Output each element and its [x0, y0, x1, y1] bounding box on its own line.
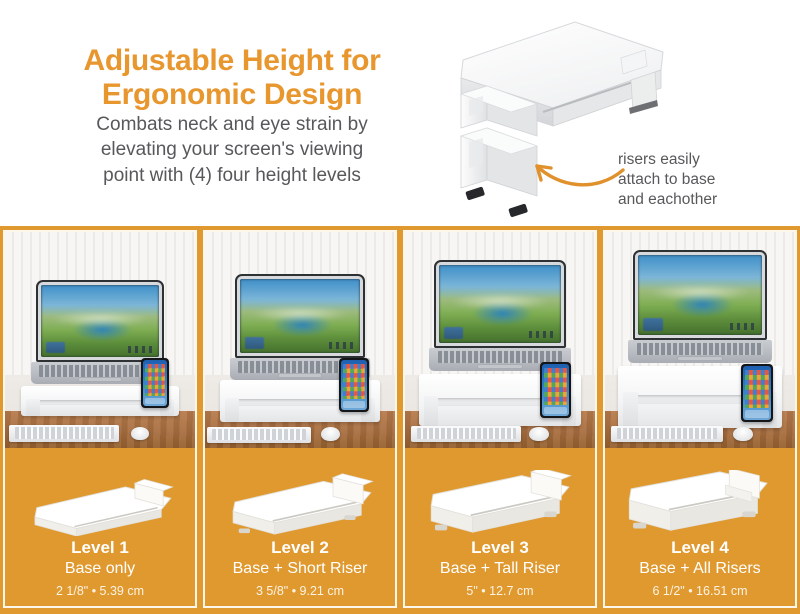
level-dimensions: 5" • 12.7 cm	[411, 584, 589, 598]
phone-screen	[143, 360, 167, 406]
stand-leg-left	[26, 399, 40, 416]
subhead-line-2: elevating your screen's viewing	[42, 137, 422, 162]
subhead-line-3: point with (4) four height levels	[42, 163, 422, 188]
stand-leg-left	[623, 392, 638, 428]
level-title: Level 1	[11, 538, 189, 558]
headline-line-2: Ergonomic Design	[42, 78, 422, 112]
level-panel-4[interactable]: Level 4 Base + All Risers 6 1/2" • 16.51…	[603, 230, 797, 608]
phone-screen	[743, 366, 771, 420]
stand-leg-left	[225, 398, 239, 422]
laptop	[633, 250, 767, 363]
desktop-icon	[643, 318, 663, 331]
level-2-labels: Level 2 Base + Short Riser 3 5/8" • 9.21…	[205, 538, 395, 606]
phone-dock	[145, 398, 165, 404]
phone-app-grid	[343, 364, 365, 399]
level-subtitle: Base + Tall Riser	[411, 559, 589, 579]
level-subtitle: Base + Short Riser	[211, 559, 389, 579]
level-panel-2[interactable]: Level 2 Base + Short Riser 3 5/8" • 9.21…	[203, 230, 397, 608]
laptop-trackpad	[477, 364, 522, 370]
computer-mouse	[321, 427, 340, 441]
external-keyboard	[611, 426, 723, 442]
level-title: Level 2	[211, 538, 389, 558]
riser-annotation: risers easily attach to base and eachoth…	[618, 150, 794, 210]
laptop-lid	[235, 274, 365, 358]
photo-level-4-desk-setup	[605, 232, 795, 448]
laptop-screen	[439, 265, 561, 343]
product-render-level-4	[605, 448, 795, 538]
smartphone-in-holder	[339, 358, 369, 412]
level-3-labels: Level 3 Base + Tall Riser 5" • 12.7 cm	[405, 538, 595, 606]
photo-level-2-desk-setup	[205, 232, 395, 448]
computer-mouse	[131, 427, 149, 440]
smartphone-in-holder	[540, 362, 571, 418]
phone-dock	[745, 410, 769, 418]
product-render-level-2	[205, 448, 395, 538]
level-title: Level 3	[411, 538, 589, 558]
external-keyboard	[411, 426, 521, 442]
laptop-keys	[637, 343, 764, 355]
subhead-line-1: Combats neck and eye strain by	[42, 112, 422, 137]
phone-dock	[343, 401, 365, 408]
laptop-screen	[638, 255, 762, 335]
level-panel-1[interactable]: Level 1 Base only 2 1/8" • 5.39 cm	[3, 230, 197, 608]
level-dimensions: 2 1/8" • 5.39 cm	[11, 584, 189, 598]
annotation-line-2: attach to base	[618, 170, 794, 190]
taskbar-icons	[329, 342, 355, 349]
level-panels-strip: Level 1 Base only 2 1/8" • 5.39 cm	[0, 226, 800, 614]
desktop-icon	[245, 337, 264, 349]
phone-screen	[341, 360, 367, 410]
desktop-icon	[46, 342, 65, 354]
computer-mouse	[733, 427, 753, 441]
laptop-lid	[434, 260, 566, 348]
laptop-trackpad	[677, 356, 723, 362]
laptop-screen	[41, 285, 159, 357]
level-4-labels: Level 4 Base + All Risers 6 1/2" • 16.51…	[605, 538, 795, 606]
product-render-level-1	[5, 448, 195, 538]
taskbar-icons	[730, 323, 757, 330]
desktop-icon	[444, 327, 464, 339]
annotation-line-3: and eachother	[618, 190, 794, 210]
level-subtitle: Base only	[11, 559, 189, 579]
level-1-labels: Level 1 Base only 2 1/8" • 5.39 cm	[5, 538, 195, 606]
level-dimensions: 3 5/8" • 9.21 cm	[211, 584, 389, 598]
laptop	[434, 260, 566, 371]
phone-app-grid	[145, 364, 165, 396]
external-keyboard	[207, 427, 311, 443]
smartphone-in-holder	[141, 358, 169, 408]
header-section: Adjustable Height for Ergonomic Design C…	[0, 0, 800, 226]
stand-leg-left	[424, 396, 439, 426]
laptop-trackpad	[78, 377, 122, 382]
page-title: Adjustable Height for Ergonomic Design	[42, 44, 422, 111]
level-panel-3[interactable]: Level 3 Base + Tall Riser 5" • 12.7 cm	[403, 230, 597, 608]
computer-mouse	[529, 427, 549, 441]
phone-dock	[544, 407, 567, 414]
external-keyboard	[9, 425, 119, 442]
photo-level-1-desk-setup	[5, 232, 195, 448]
taskbar-icons	[128, 346, 154, 352]
laptop-keyboard-base	[628, 340, 772, 363]
infographic-page: Adjustable Height for Ergonomic Design C…	[0, 0, 800, 614]
laptop-lid	[36, 280, 164, 362]
product-render-level-3	[405, 448, 595, 538]
phone-app-grid	[745, 370, 769, 408]
laptop-screen	[240, 279, 360, 353]
level-subtitle: Base + All Risers	[611, 559, 789, 579]
level-dimensions: 6 1/2" • 16.51 cm	[611, 584, 789, 598]
phone-screen	[542, 364, 569, 416]
laptop-lid	[633, 250, 767, 340]
taskbar-icons	[529, 331, 556, 338]
headline-line-1: Adjustable Height for	[42, 44, 422, 78]
phone-app-grid	[544, 368, 567, 404]
level-title: Level 4	[611, 538, 789, 558]
page-subtitle: Combats neck and eye strain by elevating…	[42, 112, 422, 188]
annotation-line-1: risers easily	[618, 150, 794, 170]
smartphone-in-holder	[741, 364, 773, 422]
laptop-trackpad	[278, 373, 323, 378]
photo-level-3-desk-setup	[405, 232, 595, 448]
